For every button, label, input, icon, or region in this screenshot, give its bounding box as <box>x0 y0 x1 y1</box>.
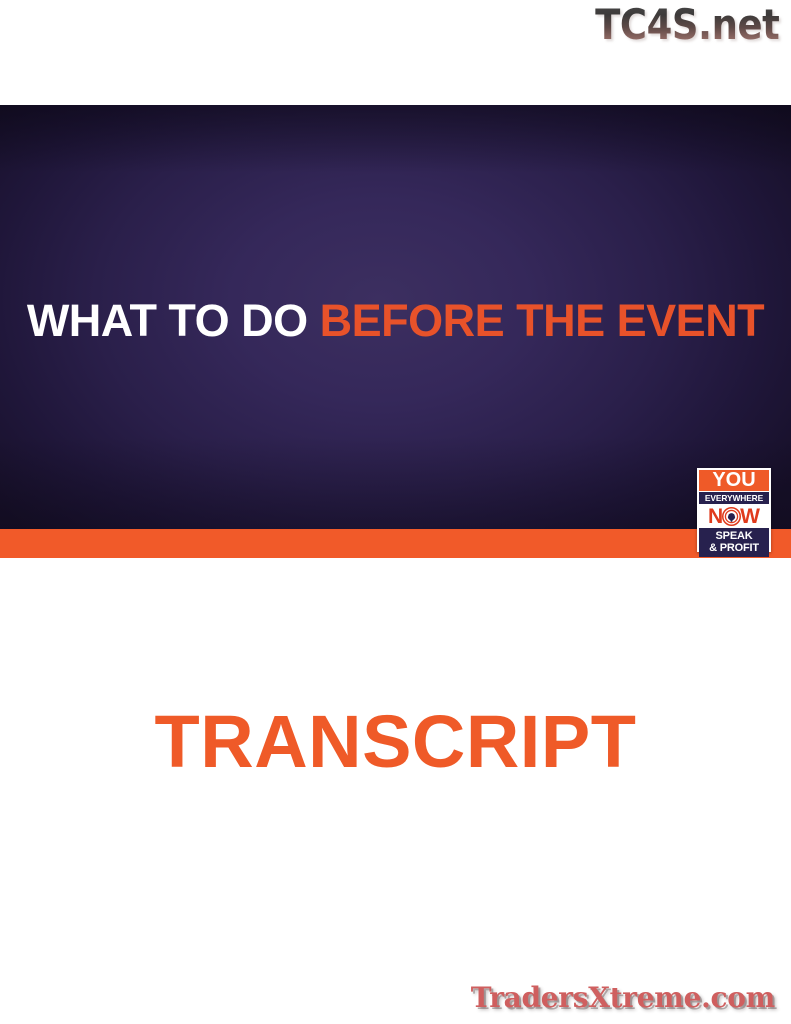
logo-line-now: N W <box>699 505 769 527</box>
slide-orange-band <box>0 529 791 558</box>
logo-speak: SPEAK <box>699 530 769 542</box>
logo-profit: & PROFIT <box>699 542 769 554</box>
page-title-transcript: TRANSCRIPT <box>0 705 791 779</box>
slide-title-orange: BEFORE THE EVENT <box>320 295 765 346</box>
bottom-watermark-tradersxtreme: TradersXtreme.com <box>471 981 775 1014</box>
logo-line-you: YOU <box>699 470 769 491</box>
slide-title-white: WHAT TO DO <box>27 295 320 346</box>
logo-line-everywhere: EVERYWHERE <box>699 492 769 504</box>
you-everywhere-now-logo: YOU EVERYWHERE N <box>697 468 771 552</box>
slide-image: WHAT TO DO BEFORE THE EVENT DLSUB.COM YO… <box>0 105 791 558</box>
top-watermark-tc4s: TC4S.net <box>595 2 779 48</box>
logo-now-letter-w: W <box>740 506 760 527</box>
broadcast-microphone-icon <box>722 507 741 526</box>
slide-title: WHAT TO DO BEFORE THE EVENT <box>0 298 791 343</box>
logo-inner: YOU EVERYWHERE N <box>699 470 769 557</box>
logo-line-speak-profit: SPEAK & PROFIT <box>699 528 769 557</box>
logo-now-text: N W <box>708 506 760 527</box>
document-page: TC4S.net TC4S.net WHAT TO DO BEFORE THE … <box>0 0 791 1024</box>
logo-now-letter-n: N <box>708 506 723 527</box>
